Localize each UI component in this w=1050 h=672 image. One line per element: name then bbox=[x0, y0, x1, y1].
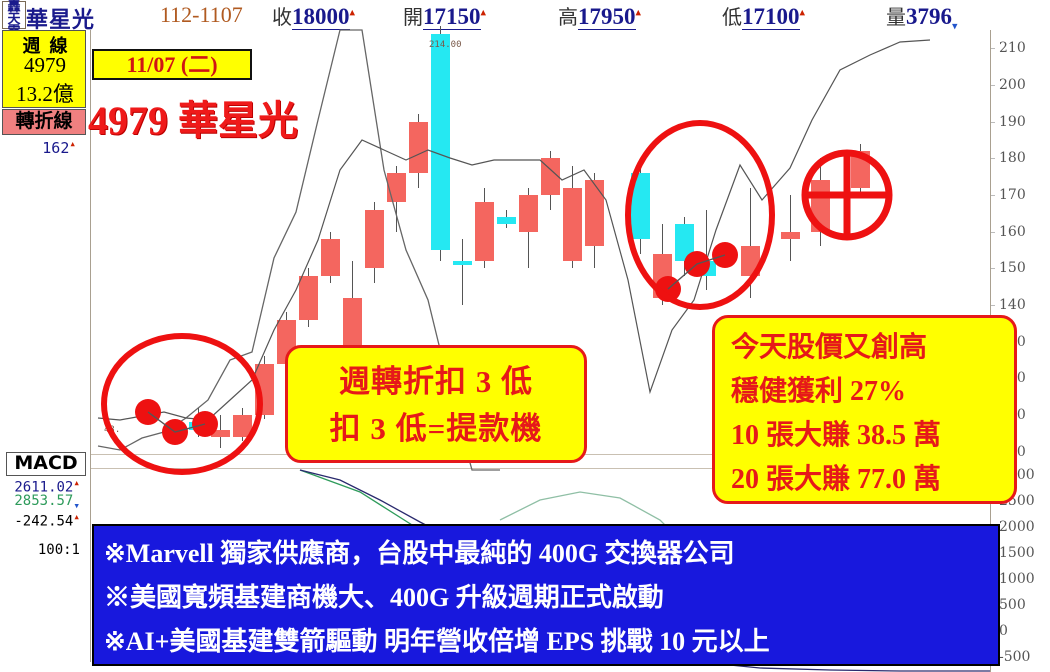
uptick-icon: ▴ bbox=[636, 6, 642, 18]
candle-body[interactable] bbox=[519, 195, 538, 232]
indicator-name-badge[interactable]: 轉折線 bbox=[2, 109, 86, 135]
candle-body[interactable] bbox=[189, 422, 208, 429]
macd-info-panel: MACD 2611.02▴ 2853.57▾ -242.54▴ 100:1 bbox=[0, 452, 90, 572]
candle-body[interactable] bbox=[387, 173, 406, 202]
banner-line-1: ※Marvell 獨家供應商，台股中最純的 400G 交換器公司 bbox=[104, 532, 998, 576]
callout-right-line-2: 穩健獲利 27% bbox=[731, 370, 1014, 414]
quote-close: 收18000▴ bbox=[272, 1, 355, 30]
candle-body[interactable] bbox=[299, 276, 318, 320]
left-info-panel: 週線 4979 13.2億 轉折線 162▴ bbox=[0, 30, 88, 470]
price-axis-tick: 160 bbox=[999, 224, 1026, 240]
uptick-icon: ▴ bbox=[481, 6, 487, 18]
callout-box-left: 週轉折扣 3 低 扣 3 低=提款機 bbox=[285, 345, 587, 463]
candle-body[interactable] bbox=[233, 415, 252, 437]
candle-body[interactable] bbox=[585, 180, 604, 246]
candle-wick bbox=[790, 195, 791, 261]
macd-axis-tick: 500 bbox=[999, 597, 1026, 613]
candle-body[interactable] bbox=[365, 210, 384, 269]
macd-osc-value: -242.54▴ bbox=[0, 510, 86, 530]
date-badge: 11/07 (二) bbox=[92, 49, 252, 80]
candle-body[interactable] bbox=[211, 430, 230, 437]
candle-body[interactable] bbox=[811, 180, 830, 231]
candle-body[interactable] bbox=[431, 34, 450, 250]
candle-wick bbox=[706, 210, 707, 291]
quote-high: 高17950▴ bbox=[558, 1, 641, 30]
price-axis-tick: 180 bbox=[999, 150, 1026, 166]
banner-line-3: ※AI+美國基建雙箭驅動 明年營收倍增 EPS 挑戰 10 元以上 bbox=[104, 620, 998, 664]
callout-left-line-2: 扣 3 低=提款機 bbox=[288, 405, 584, 452]
price-axis-tick: 190 bbox=[999, 114, 1026, 130]
quote-open: 開17150▴ bbox=[403, 1, 486, 30]
uptick-icon: ▴ bbox=[800, 6, 806, 18]
quote-low: 低17100▴ bbox=[722, 1, 805, 30]
candle-body[interactable] bbox=[675, 224, 694, 261]
low-price-label: 43. bbox=[104, 425, 120, 435]
candle-body[interactable] bbox=[453, 261, 472, 265]
peak-price-label: 214.00 bbox=[429, 40, 462, 50]
quote-header: 轟天雷 華星光 112-1107 收18000▴ 開17150▴ 高17950▴… bbox=[0, 0, 1050, 30]
candle-body[interactable] bbox=[781, 232, 800, 239]
macd-axis-tick: -500 bbox=[999, 649, 1030, 665]
callout-left-line-1: 週轉折扣 3 低 bbox=[288, 358, 584, 405]
candle-body[interactable] bbox=[321, 239, 340, 276]
price-axis-tick: 170 bbox=[999, 187, 1026, 203]
banner-line-2: ※美國寬頻基建商機大、400G 升級週期正式啟動 bbox=[104, 576, 998, 620]
callout-box-right: 今天股價又創高 穩健獲利 27% 10 張大賺 38.5 萬 20 張大賺 77… bbox=[712, 315, 1017, 504]
price-axis-tick: 200 bbox=[999, 77, 1026, 93]
candle-body[interactable] bbox=[475, 202, 494, 261]
candle-body[interactable] bbox=[741, 246, 760, 275]
price-axis-tick: 140 bbox=[999, 297, 1026, 313]
page-title: 4979 華星光 bbox=[88, 88, 298, 146]
indicator-value: 162▴ bbox=[0, 137, 84, 157]
candle-body[interactable] bbox=[631, 173, 650, 239]
price-axis-tick: 150 bbox=[999, 260, 1026, 276]
macd-title[interactable]: MACD bbox=[6, 452, 86, 476]
macd-axis-tick: 1500 bbox=[999, 545, 1035, 561]
macd-axis-tick: 1000 bbox=[999, 571, 1035, 587]
quote-volume: 量3796▾ bbox=[886, 1, 958, 33]
macd-macd-value: 2853.57▾ bbox=[0, 493, 86, 512]
uptick-icon: ▴ bbox=[350, 6, 356, 18]
candle-body[interactable] bbox=[541, 158, 560, 195]
candle-wick bbox=[462, 239, 463, 305]
candle-body[interactable] bbox=[409, 122, 428, 173]
macd-scale-ratio: 100:1 bbox=[0, 542, 86, 558]
callout-right-line-3: 10 張大賺 38.5 萬 bbox=[731, 414, 1014, 458]
app-logo-icon: 轟天雷 bbox=[2, 1, 26, 29]
date-range-label: 112-1107 bbox=[160, 2, 243, 28]
candle-body[interactable] bbox=[851, 151, 870, 188]
turnover-label: 13.2億 bbox=[3, 78, 87, 108]
price-axis-tick: 210 bbox=[999, 40, 1026, 56]
candle-body[interactable] bbox=[497, 217, 516, 224]
info-banner: ※Marvell 獨家供應商，台股中最純的 400G 交換器公司 ※美國寬頻基建… bbox=[92, 524, 1000, 666]
macd-axis-tick: 0 bbox=[999, 623, 1008, 639]
callout-right-line-1: 今天股價又創高 bbox=[731, 326, 1014, 370]
candle-body[interactable] bbox=[653, 254, 672, 298]
period-info-box[interactable]: 週線 4979 13.2億 bbox=[2, 30, 86, 108]
macd-axis-tick: 2000 bbox=[999, 519, 1035, 535]
candle-wick bbox=[750, 188, 751, 298]
candle-body[interactable] bbox=[697, 261, 716, 276]
candle-body[interactable] bbox=[563, 188, 582, 261]
stock-code-label: 4979 bbox=[3, 53, 87, 78]
callout-right-line-4: 20 張大賺 77.0 萬 bbox=[731, 458, 1014, 502]
candle-body[interactable] bbox=[255, 364, 274, 415]
